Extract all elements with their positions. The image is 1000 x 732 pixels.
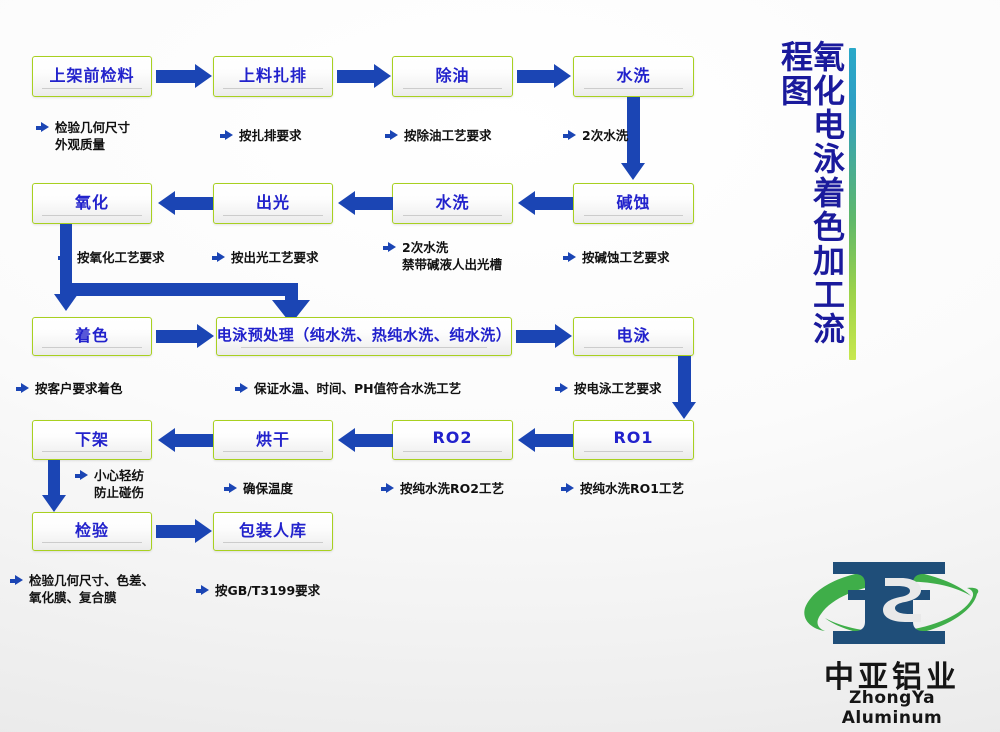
process-box-yanghua[interactable]: 氧化 (32, 183, 152, 224)
arrow-head-r4-b (338, 428, 355, 452)
arrow-bullet-icon (36, 122, 49, 133)
arrow-head-r1-c (554, 64, 571, 88)
note-jianshi: 按碱蚀工艺要求 (563, 250, 670, 267)
process-box-label: 检验 (75, 517, 109, 541)
process-box-shuixi-2[interactable]: 水洗 (392, 183, 513, 224)
process-box-jianyan[interactable]: 检验 (32, 512, 152, 551)
arrow-shaft-r4-c (535, 434, 573, 447)
arrow-bullet-icon (381, 483, 394, 494)
arrow-head-r2-b (338, 191, 355, 215)
arrow-bullet-icon (196, 585, 209, 596)
note-chuyou: 按除油工艺要求 (385, 128, 492, 145)
arrow-bullet-icon (224, 483, 237, 494)
arrow-bullet-icon (235, 383, 248, 394)
logo-name-en: ZhongYa Aluminum (803, 688, 981, 728)
process-box-label: 水洗 (435, 189, 469, 213)
note-shangliaozhapai: 按扎排要求 (220, 128, 302, 145)
process-box-label: 烘干 (256, 426, 290, 450)
process-box-zhuose[interactable]: 着色 (32, 317, 152, 356)
process-box-baozhuangruku[interactable]: 包装人库 (213, 512, 333, 551)
note-text: 按出光工艺要求 (231, 250, 319, 267)
process-box-dianyongyuchuli[interactable]: 电泳预处理（纯水洗、热纯水洗、纯水洗） (216, 317, 512, 356)
process-box-shuixi-1[interactable]: 水洗 (573, 56, 694, 97)
process-box-label: RO2 (432, 428, 472, 447)
arrow-head-r3-b (555, 324, 572, 348)
arrow-bullet-icon (555, 383, 568, 394)
arrow-shaft-r3-b (516, 330, 556, 343)
note-text: 按电泳工艺要求 (574, 381, 662, 398)
note-text: 按氧化工艺要求 (77, 250, 165, 267)
process-box-label: 除油 (435, 62, 469, 86)
arrow-shaft-r1-b (337, 70, 375, 83)
process-box-label: 出光 (256, 189, 290, 213)
process-box-chuyou[interactable]: 除油 (392, 56, 513, 97)
note-ro2: 按纯水洗RO2工艺 (381, 481, 504, 498)
note-shangjiaqianjianliao: 检验几何尺寸 外观质量 (36, 120, 130, 154)
arrow-bullet-icon (10, 575, 23, 586)
process-box-label: 着色 (75, 322, 109, 346)
arrow-head-r2-c (518, 191, 535, 215)
flowchart-canvas: 上架前检料 上料扎排 除油 水洗 检验几何尺寸 外观质量 按扎排要求 按除油工艺… (0, 0, 1000, 732)
process-box-xiajia[interactable]: 下架 (32, 420, 152, 460)
note-text: 按除油工艺要求 (404, 128, 492, 145)
note-text: 2次水洗 (582, 128, 628, 145)
note-text: 检验几何尺寸、色差、 氧化膜、复合膜 (29, 573, 154, 607)
note-honggan: 确保温度 (224, 481, 293, 498)
note-text: 确保温度 (243, 481, 293, 498)
process-box-dianyong[interactable]: 电泳 (573, 317, 694, 356)
arrow-shaft-r3-a (156, 330, 198, 343)
process-box-ro1[interactable]: RO1 (573, 420, 694, 460)
note-xiajia: 小心轻纺 防止碰伤 (75, 468, 144, 502)
note-dianyong: 按电泳工艺要求 (555, 381, 662, 398)
process-box-label: 氧化 (75, 189, 109, 213)
note-text: 按GB/T3199要求 (215, 583, 320, 600)
note-text: 按碱蚀工艺要求 (582, 250, 670, 267)
note-text: 按客户要求着色 (35, 381, 123, 398)
note-shuixi-2: 2次水洗 禁带碱液人出光槽 (383, 240, 502, 274)
arrow-shaft-dianyong-down (678, 356, 691, 404)
arrow-head-r2-a (158, 191, 175, 215)
arrow-bullet-icon (75, 470, 88, 481)
arrow-head-r4-a (158, 428, 175, 452)
connector-yanghua-branch-horizontal (60, 283, 298, 296)
process-box-label: 上架前检料 (49, 62, 134, 86)
arrow-shaft-xiajia-down (48, 460, 60, 498)
process-box-label: 电泳预处理（纯水洗、热纯水洗、纯水洗） (217, 324, 512, 345)
note-zhuose: 按客户要求着色 (16, 381, 123, 398)
note-text: 保证水温、时间、PH值符合水洗工艺 (254, 381, 461, 398)
logo-mark-icon (795, 556, 987, 656)
note-text: 检验几何尺寸 外观质量 (55, 120, 130, 154)
arrow-head-r1-a (195, 64, 212, 88)
arrow-shaft-r1-c (517, 70, 555, 83)
process-box-honggan[interactable]: 烘干 (213, 420, 333, 460)
note-text: 小心轻纺 防止碰伤 (94, 468, 144, 502)
company-logo: 中亚铝业 ZhongYa Aluminum (795, 556, 987, 718)
note-baozhuangruku: 按GB/T3199要求 (196, 583, 320, 600)
arrow-shaft-r4-a (175, 434, 213, 447)
note-text: 按纯水洗RO2工艺 (400, 481, 504, 498)
arrow-bullet-icon (563, 130, 576, 141)
note-text: 按纯水洗RO1工艺 (580, 481, 684, 498)
process-box-label: 包装人库 (239, 517, 307, 541)
process-box-shangliaozhapai[interactable]: 上料扎排 (213, 56, 333, 97)
arrow-head-xiajia-down (42, 495, 66, 512)
note-dianyongyuchuli: 保证水温、时间、PH值符合水洗工艺 (235, 381, 461, 398)
process-box-label: 下架 (75, 426, 109, 450)
arrow-bullet-icon (561, 483, 574, 494)
process-box-label: 电泳 (616, 322, 650, 346)
note-chuguang: 按出光工艺要求 (212, 250, 319, 267)
arrow-shaft-r4-b (355, 434, 393, 447)
arrow-bullet-icon (385, 130, 398, 141)
arrow-shaft-r1-a (156, 70, 196, 83)
process-box-chuguang[interactable]: 出光 (213, 183, 333, 224)
arrow-bullet-icon (563, 252, 576, 263)
arrow-shaft-r2-c (535, 197, 573, 210)
process-box-shangjiaqianjianliao[interactable]: 上架前检料 (32, 56, 152, 97)
arrow-shaft-r5-a (156, 525, 196, 538)
arrow-head-r5-a (195, 519, 212, 543)
process-box-label: 碱蚀 (616, 189, 650, 213)
arrow-bullet-icon (220, 130, 233, 141)
process-box-jianshi[interactable]: 碱蚀 (573, 183, 694, 224)
arrow-shaft-r2-a (175, 197, 213, 210)
process-box-label: 上料扎排 (239, 62, 307, 86)
note-jianyan: 检验几何尺寸、色差、 氧化膜、复合膜 (10, 573, 154, 607)
page-title: 氧化电泳着色加工流程图 (793, 40, 843, 370)
arrow-head-r3-a (197, 324, 214, 348)
arrow-bullet-icon (383, 242, 396, 253)
note-shuixi-1: 2次水洗 (563, 128, 628, 145)
title-accent-bar (849, 48, 856, 360)
arrow-head-r4-c (518, 428, 535, 452)
arrow-head-dianyong-down (672, 402, 696, 419)
note-text: 按扎排要求 (239, 128, 302, 145)
note-ro1: 按纯水洗RO1工艺 (561, 481, 684, 498)
arrow-head-r1-b (374, 64, 391, 88)
arrow-shaft-r1-down (627, 97, 640, 165)
arrow-head-yanghua-down (54, 294, 78, 311)
note-yanghua: 按氧化工艺要求 (58, 250, 165, 267)
note-text: 2次水洗 禁带碱液人出光槽 (402, 240, 502, 274)
process-box-label: RO1 (613, 428, 653, 447)
arrow-shaft-r2-b (355, 197, 393, 210)
arrow-bullet-icon (16, 383, 29, 394)
process-box-ro2[interactable]: RO2 (392, 420, 513, 460)
arrow-bullet-icon (212, 252, 225, 263)
arrow-head-r1-down (621, 163, 645, 180)
process-box-label: 水洗 (616, 62, 650, 86)
